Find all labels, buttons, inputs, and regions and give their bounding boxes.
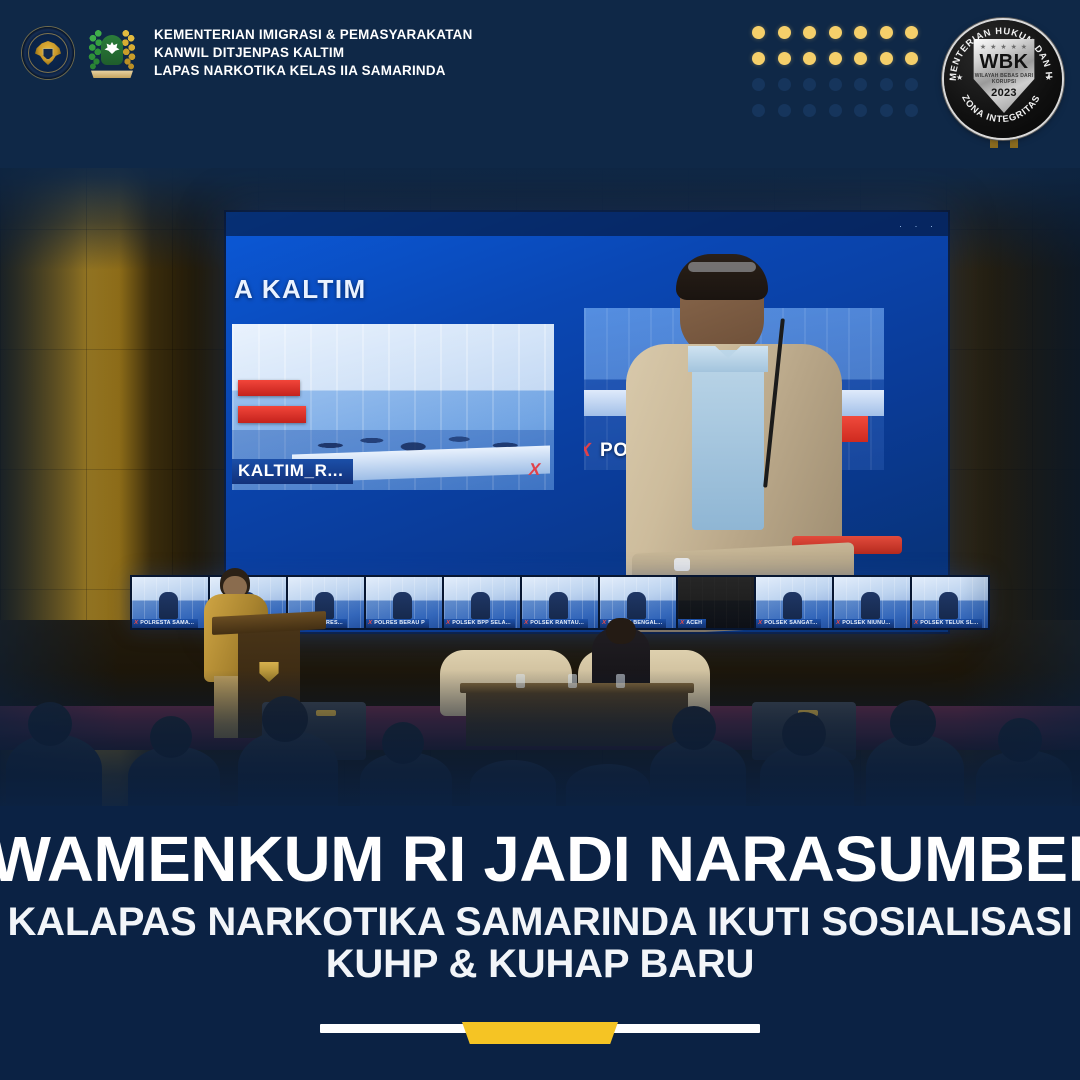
thumbnail-figure xyxy=(861,592,879,619)
left-feed-label: KALTIM_R... xyxy=(232,459,353,484)
screen-left-feed: X KALTIM_R... xyxy=(232,324,554,490)
poster-root: KEMENTERIAN IMIGRASI & PEMASYARAKATAN KA… xyxy=(0,0,1080,1080)
thumbnail-figure xyxy=(393,592,411,619)
thumbnail-label: X POLSEK SANGAT... xyxy=(756,619,821,629)
badge-subtitle: WILAYAH BEBAS DARI KORUPSI xyxy=(971,73,1037,85)
badge-star-left-icon: ★ xyxy=(956,73,963,82)
thumbnail-label-text: ACEH xyxy=(686,620,702,626)
badge-acronym: WBK xyxy=(980,52,1029,72)
thumbnail-logo-icon: X xyxy=(133,620,138,626)
pemasyarakatan-logo-icon xyxy=(84,26,140,80)
screen-feed-title: A KALTIM xyxy=(234,274,367,305)
subheadline: KALAPAS NARKOTIKA SAMARINDA IKUTI SOSIAL… xyxy=(0,901,1080,986)
thumbnail-item: X POLSEK RANTAU... xyxy=(522,577,598,628)
badge-year: 2023 xyxy=(991,87,1017,99)
speaker-hair xyxy=(676,254,768,300)
speaker-shirt xyxy=(692,350,764,530)
institution-name-block: KEMENTERIAN IMIGRASI & PEMASYARAKATAN KA… xyxy=(154,26,473,79)
speaker-watch xyxy=(674,558,690,571)
led-screen: · · · A KALTIM X KALTIM_R... POLRES BER xyxy=(226,212,948,632)
thumbnail-label-text: POLSEK NIUNU... xyxy=(842,620,890,626)
speaker-glasses-icon xyxy=(688,262,756,272)
thumbnail-logo-icon: X xyxy=(913,620,918,626)
thumbnail-label: X POLSEK BPP SELA... xyxy=(444,619,515,629)
thumbnail-logo-icon: X xyxy=(367,620,372,626)
thumbnail-logo-icon: X xyxy=(679,620,684,626)
thumbnail-label: X POLRES BERAU P xyxy=(366,619,429,629)
thumbnail-label: X POLRESTA SAMA... xyxy=(132,619,198,629)
thumbnail-label-text: POLRES BERAU P xyxy=(374,620,425,626)
thumbnail-label: X POLSEK RANTAU... xyxy=(522,619,588,629)
thumbnail-label-text: POLSEK RANTAU... xyxy=(530,620,584,626)
footer-decoration xyxy=(0,1012,1080,1042)
footer-gold-tab xyxy=(462,1022,618,1044)
screen-top-bar: · · · xyxy=(226,212,948,236)
thumbnail-item: X POLSEK NIUNU... xyxy=(834,577,910,628)
thumbnail-item: X POLRES BERAU P xyxy=(366,577,442,628)
left-feed-sign-2 xyxy=(238,406,306,423)
thumbnail-label-text: POLRESTA SAMA... xyxy=(140,620,194,626)
decorative-dot-grid xyxy=(752,26,931,130)
header-identity: KEMENTERIAN IMIGRASI & PEMASYARAKATAN KA… xyxy=(22,26,473,80)
badge-star-right-icon: ★ xyxy=(1045,73,1052,82)
badge-stars-row: ★ ★ ★ ★ ★ xyxy=(980,43,1028,51)
thumbnail-figure xyxy=(627,592,645,619)
thumbnail-item: X POLSEK BPP SELA... xyxy=(444,577,520,628)
header-bar: KEMENTERIAN IMIGRASI & PEMASYARAKATAN KA… xyxy=(0,0,1080,168)
event-photograph: · · · A KALTIM X KALTIM_R... POLRES BER xyxy=(0,150,1080,830)
wbk-zona-integritas-badge: KEMENTERIAN HUKUM DAN HAM ZONA INTEGRITA… xyxy=(942,20,1066,144)
institution-line-1: KEMENTERIAN IMIGRASI & PEMASYARAKATAN xyxy=(154,26,473,44)
subheadline-line-1: KALAPAS NARKOTIKA SAMARINDA IKUTI SOSIAL… xyxy=(0,901,1080,943)
thumbnail-figure xyxy=(471,592,489,619)
thumbnail-label: X ACEH xyxy=(678,619,706,629)
thumbnail-label: X POLSEK NIUNU... xyxy=(834,619,894,629)
institution-line-2: KANWIL DITJENPAS KALTIM xyxy=(154,44,473,62)
thumbnail-figure xyxy=(939,592,957,619)
screen-window-dots: · · · xyxy=(899,221,938,231)
thumbnail-label-text: POLSEK BPP SELA... xyxy=(452,620,511,626)
thumbnail-logo-icon: X xyxy=(445,620,450,626)
headline: WAMENKUM RI JADI NARASUMBER xyxy=(0,828,1080,891)
thumbnail-figure xyxy=(549,592,567,619)
thumbnail-logo-icon: X xyxy=(757,620,762,626)
thumbnail-item: X ACEH xyxy=(678,577,754,628)
subheadline-line-2: KUHP & KUHAP BARU xyxy=(0,943,1080,985)
thumbnail-logo-icon: X xyxy=(523,620,528,626)
thumbnail-item: X POLSEK SANGAT... xyxy=(756,577,832,628)
institution-line-3: LAPAS NARKOTIKA KELAS IIA SAMARINDA xyxy=(154,62,473,80)
garuda-pancasila-icon xyxy=(22,27,74,79)
left-feed-sign-1 xyxy=(238,380,300,396)
thumbnail-label-text: POLSEK SANGAT... xyxy=(764,620,817,626)
thumbnail-figure xyxy=(783,592,801,619)
thumbnail-logo-icon: X xyxy=(835,620,840,626)
thumbnail-figure xyxy=(159,592,177,619)
